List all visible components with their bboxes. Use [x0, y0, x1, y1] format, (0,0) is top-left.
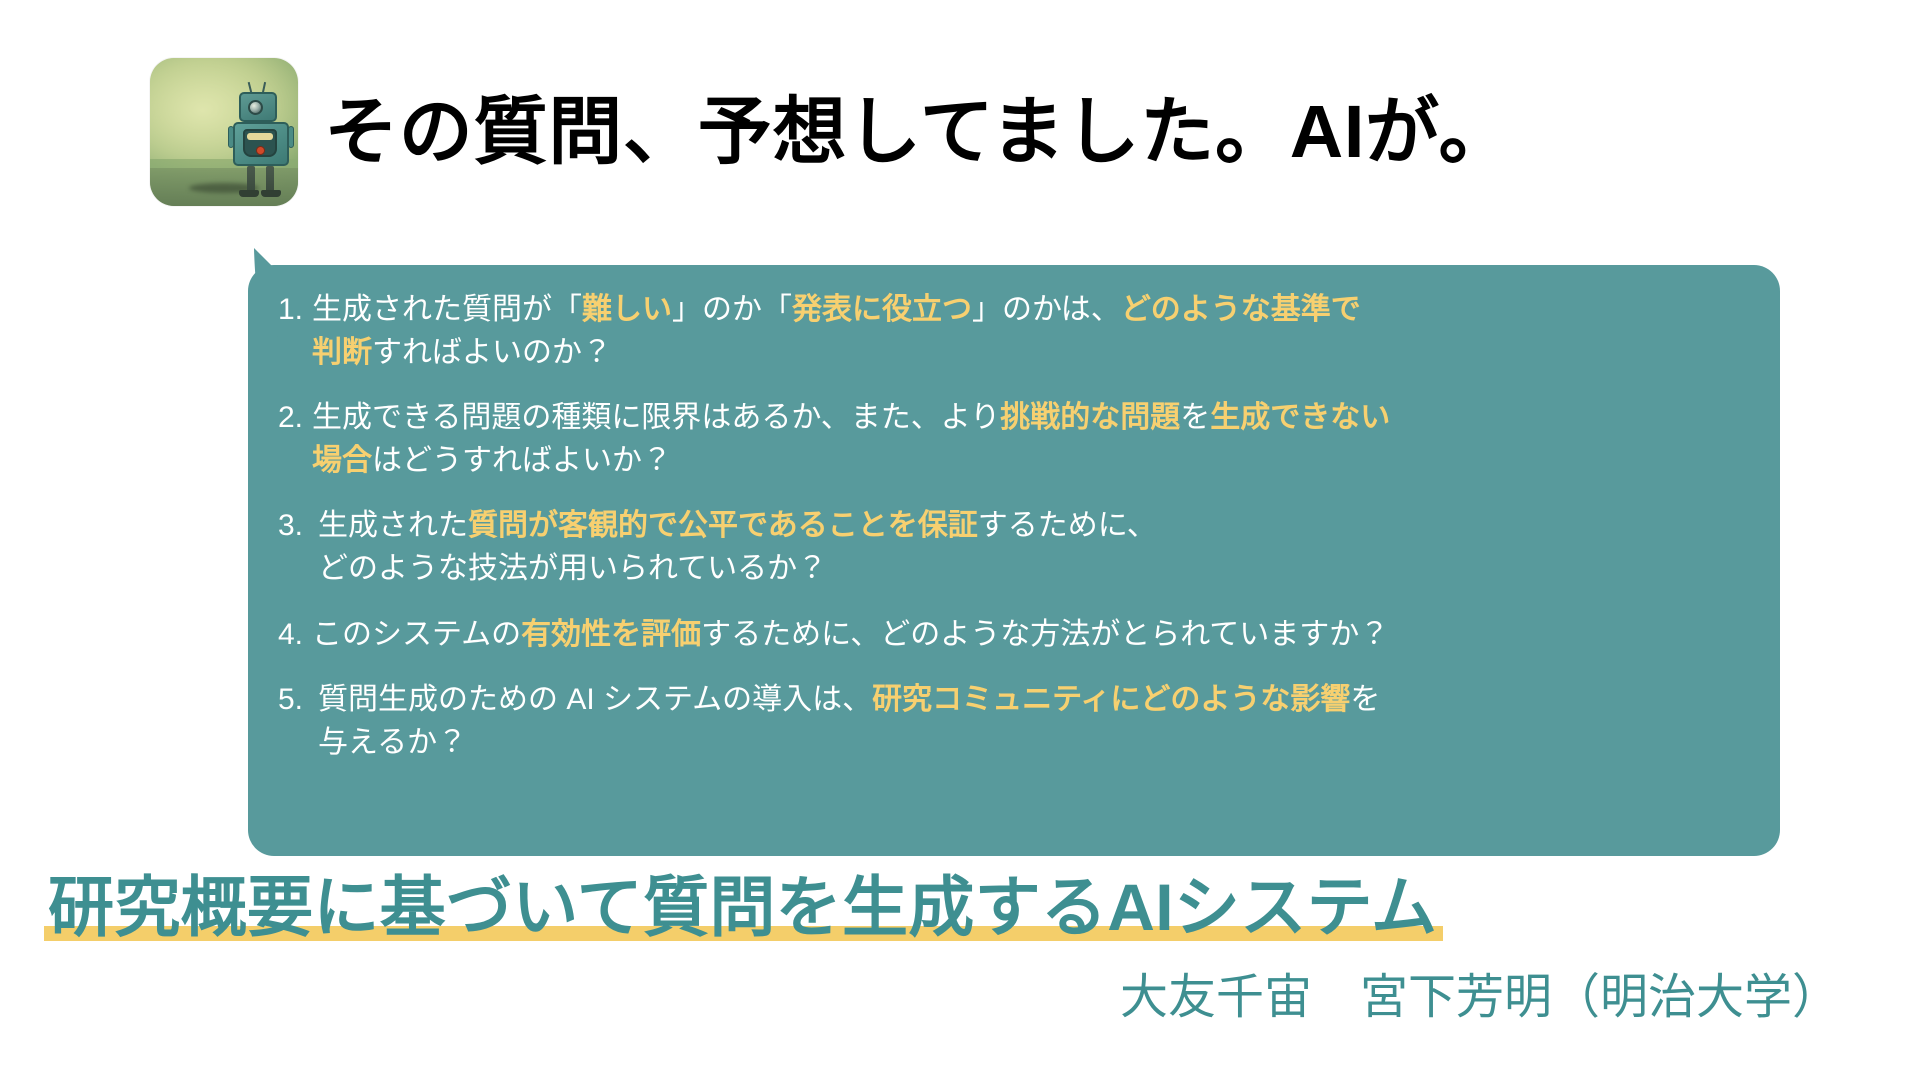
question-number: 4.: [260, 614, 312, 657]
robot-foot-right: [261, 190, 281, 197]
plain-phrase: はどうすればよいか？: [372, 444, 672, 477]
question-line: 与えるか？: [312, 722, 1736, 765]
question-item: 4.このシステムの有効性を評価するために、どのような方法がとられていますか？: [260, 614, 1736, 657]
highlighted-phrase: どのような基準で: [1121, 293, 1361, 326]
footer-title-group: 研究概要に基づいて質問を生成するAIシステム: [48, 872, 1437, 943]
question-item: 3.生成された質問が客観的で公平であることを保証するために、どのような技法が用い…: [260, 505, 1736, 590]
question-line: 生成された質問が「難しい」のか「発表に役立つ」のかは、どのような基準で: [312, 289, 1736, 332]
robot-eye: [248, 100, 263, 115]
highlighted-phrase: 発表に役立つ: [792, 293, 972, 326]
question-line: 生成された質問が客観的で公平であることを保証するために、: [312, 505, 1736, 548]
slide-canvas: その質問、予想してました。AIが。 1.生成された質問が「難しい」のか「発表に役…: [0, 0, 1920, 1080]
question-line: このシステムの有効性を評価するために、どのような方法がとられていますか？: [312, 614, 1736, 657]
plain-phrase: すればよいのか？: [372, 336, 612, 369]
highlighted-phrase: 有効性を評価: [521, 618, 701, 651]
highlighted-phrase: 場合: [312, 444, 372, 477]
question-number: 1.: [260, 289, 312, 332]
plain-phrase: を: [1350, 683, 1380, 716]
footer-title: 研究概要に基づいて質問を生成するAIシステム: [48, 872, 1437, 943]
plain-phrase: するために、どのような方法がとられていますか？: [701, 618, 1389, 651]
robot-leg-left: [247, 166, 255, 192]
plain-phrase: 生成された: [318, 509, 468, 542]
plain-phrase: 生成された質問が「: [312, 293, 582, 326]
question-item: 5.質問生成のための AI システムの導入は、研究コミュニティにどのような影響を…: [260, 679, 1736, 764]
question-text: 生成された質問が「難しい」のか「発表に役立つ」のかは、どのような基準で判断すれば…: [312, 289, 1736, 374]
question-number: 3.: [260, 505, 312, 548]
question-line: 質問生成のための AI システムの導入は、研究コミュニティにどのような影響を: [312, 679, 1736, 722]
question-line: 判断すればよいのか？: [312, 332, 1736, 375]
robot-chest-button: [256, 146, 265, 155]
question-item: 1.生成された質問が「難しい」のか「発表に役立つ」のかは、どのような基準で判断す…: [260, 289, 1736, 374]
plain-phrase: このシステムの: [312, 618, 521, 651]
robot-arm-right: [288, 126, 294, 148]
question-text: 生成された質問が客観的で公平であることを保証するために、どのような技法が用いられ…: [312, 505, 1736, 590]
question-line: 場合はどうすればよいか？: [312, 440, 1736, 483]
highlighted-phrase: 挑戦的な問題: [1000, 401, 1180, 434]
robot-avatar-icon: [150, 58, 298, 206]
question-line: どのような技法が用いられているか？: [312, 548, 1736, 591]
question-bubble: 1.生成された質問が「難しい」のか「発表に役立つ」のかは、どのような基準で判断す…: [248, 248, 1780, 856]
robot-foot-left: [239, 190, 259, 197]
question-item: 2.生成できる問題の種類に限界はあるか、また、より挑戦的な問題を生成できない場合…: [260, 397, 1736, 482]
plain-phrase: 質問生成のための AI システムの導入は、: [318, 683, 872, 716]
robot-figure: [233, 82, 295, 200]
highlighted-phrase: 質問が客観的で公平であることを保証: [468, 509, 978, 542]
highlighted-phrase: 生成できない: [1210, 401, 1390, 434]
question-number: 2.: [260, 397, 312, 440]
plain-phrase: 生成できる問題の種類に限界はあるか、また、より: [312, 401, 1000, 434]
footer-authors: 大友千宙 宮下芳明（明治大学）: [48, 957, 1880, 1027]
highlighted-phrase: 判断: [312, 336, 372, 369]
highlighted-phrase: 研究コミュニティにどのような影響: [872, 683, 1350, 716]
plain-phrase: するために、: [978, 509, 1157, 542]
question-text: 生成できる問題の種類に限界はあるか、また、より挑戦的な問題を生成できない場合はど…: [312, 397, 1736, 482]
slide-footer: 研究概要に基づいて質問を生成するAIシステム 大友千宙 宮下芳明（明治大学）: [0, 872, 1920, 1027]
plain-phrase: 」のかは、: [972, 293, 1121, 326]
slide-header: その質問、予想してました。AIが。: [150, 58, 1513, 206]
robot-arm-left: [228, 126, 234, 148]
question-text: このシステムの有効性を評価するために、どのような方法がとられていますか？: [312, 614, 1736, 657]
plain-phrase: を: [1180, 401, 1210, 434]
question-text: 質問生成のための AI システムの導入は、研究コミュニティにどのような影響を与え…: [312, 679, 1736, 764]
robot-leg-right: [266, 166, 274, 192]
plain-phrase: どのような技法が用いられているか？: [318, 552, 827, 585]
plain-phrase: 」のか「: [672, 293, 792, 326]
question-line: 生成できる問題の種類に限界はあるか、また、より挑戦的な問題を生成できない: [312, 397, 1736, 440]
highlighted-phrase: 難しい: [582, 293, 672, 326]
page-title: その質問、予想してました。AIが。: [324, 95, 1513, 169]
plain-phrase: 与えるか？: [318, 726, 467, 759]
question-list: 1.生成された質問が「難しい」のか「発表に役立つ」のかは、どのような基準で判断す…: [248, 265, 1780, 788]
question-number: 5.: [260, 679, 312, 722]
robot-chest-bar: [247, 133, 273, 140]
